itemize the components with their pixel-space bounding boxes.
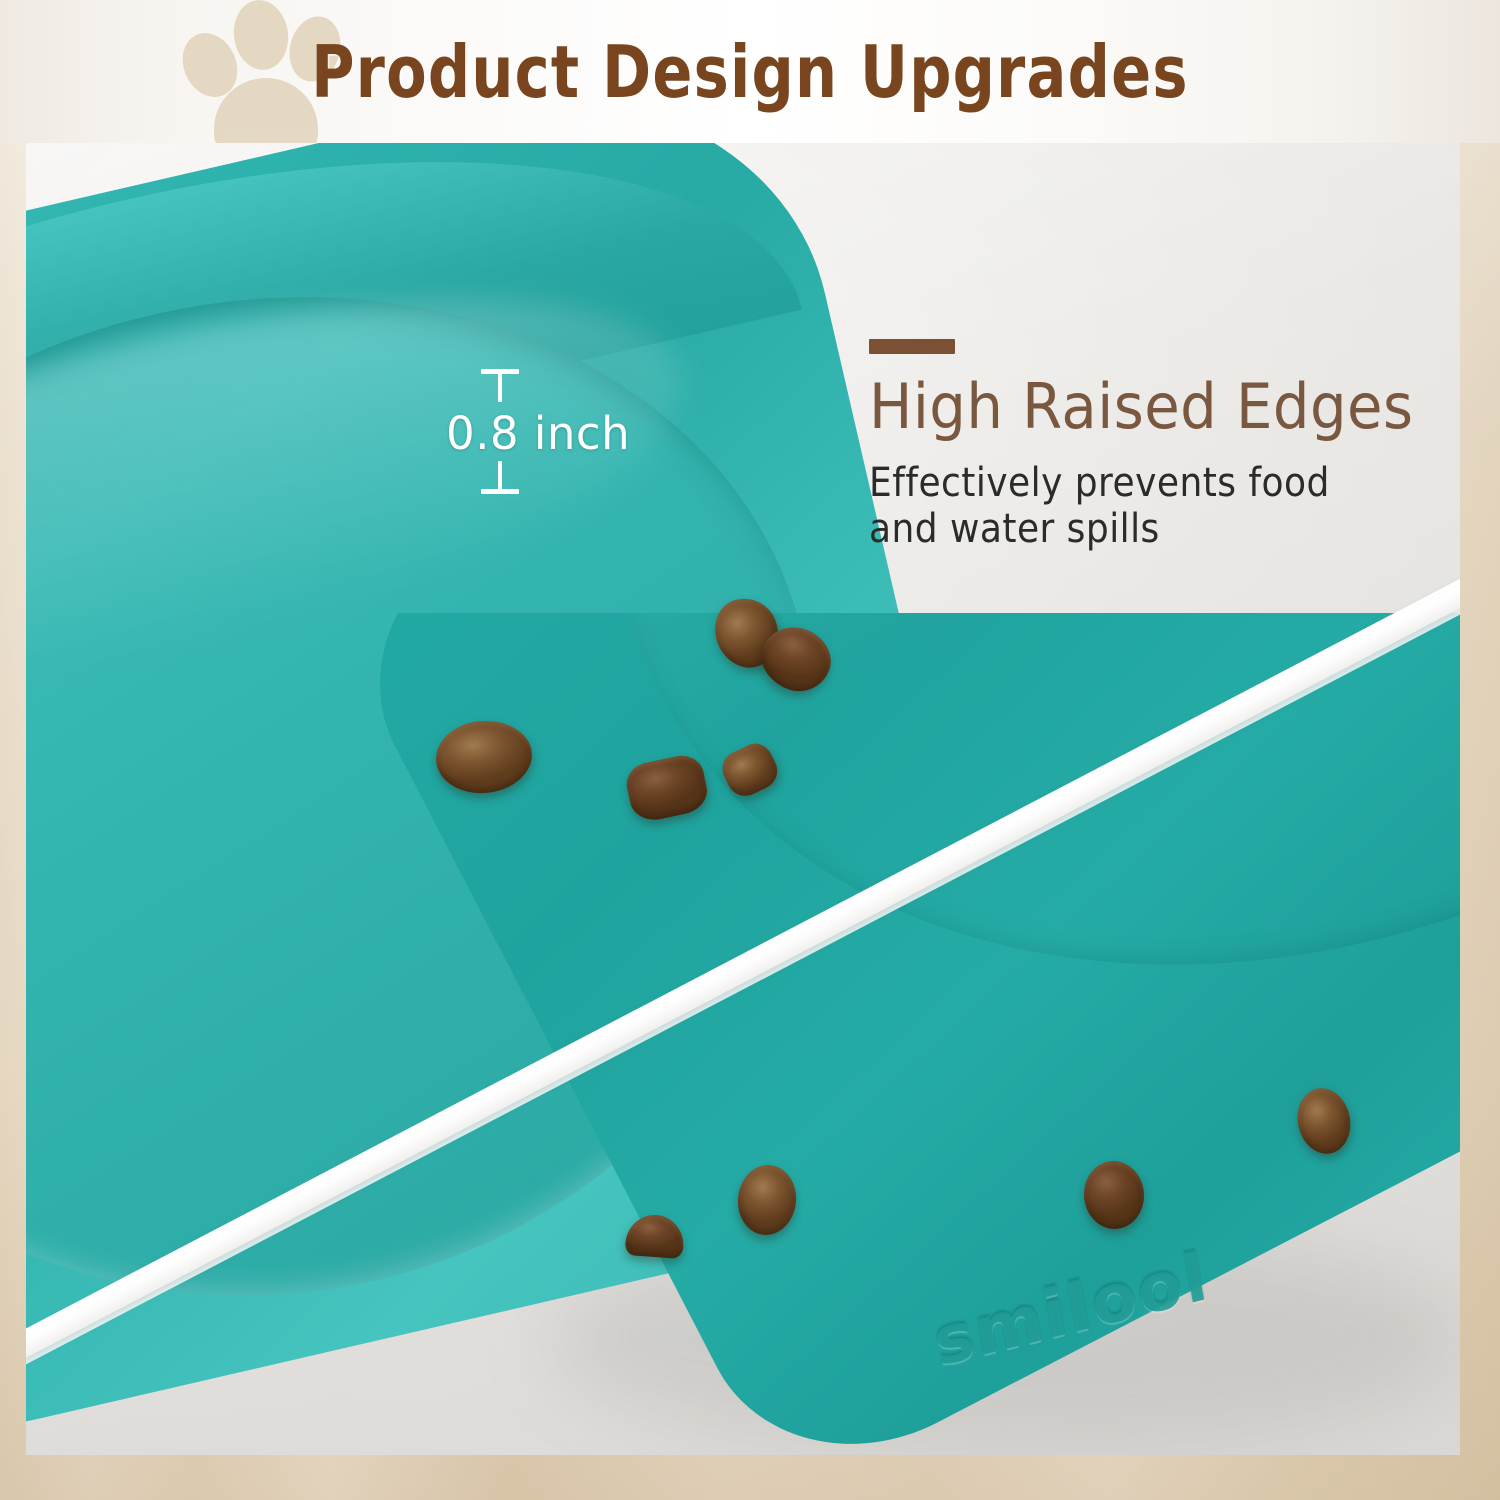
callout-heading: High Raised Edges [869,370,1414,443]
dimension-label: 0.8 inch [446,407,630,460]
dimension-callout: 0.8 inch [481,369,691,495]
dimension-stem-bottom [498,461,502,489]
callout-body: Effectively prevents food and water spil… [869,461,1396,552]
accent-dash [869,339,955,354]
page-title: Product Design Upgrades [135,0,1365,143]
callout-body-line-1: Effectively prevents food [869,461,1396,507]
callout-high-raised-edges: High Raised Edges Effectively prevents f… [869,339,1454,552]
header-band: Product Design Upgrades [0,0,1500,143]
dimension-cap-bottom [481,489,519,494]
callout-body-line-2: and water spills [869,507,1396,553]
product-photo-panel: 0.8 inch smilool High Raised Edges Effec… [26,143,1460,1455]
dimension-stem-top [498,374,502,402]
